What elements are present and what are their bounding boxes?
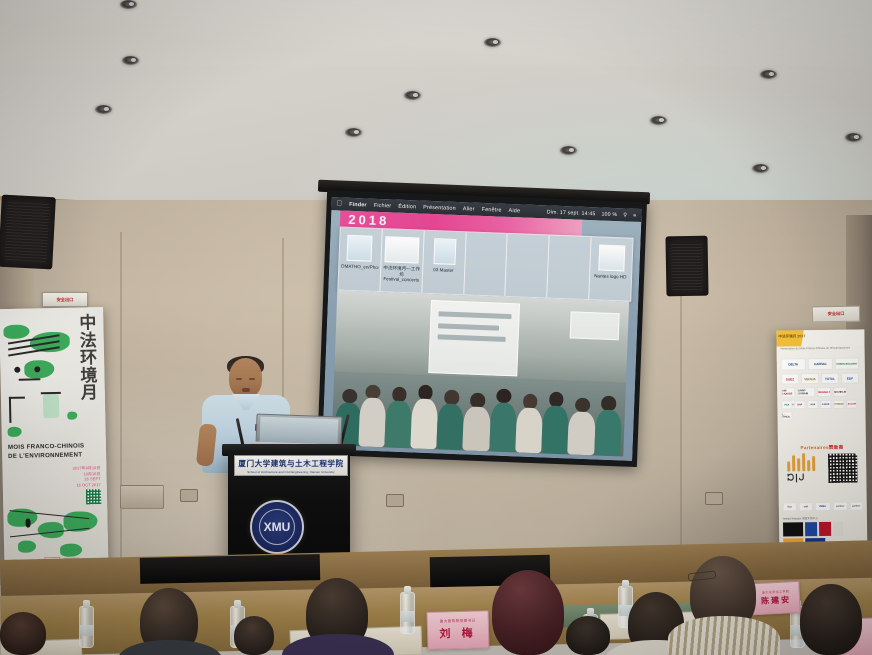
menubar-status-area: Dim. 17 sept. 14:45 100 % ⚲ ≡: [547, 209, 637, 218]
photo-whiteboard-line: [437, 334, 505, 342]
tile-blue: [805, 522, 817, 536]
sponsor-logo: SAINT-GOBAIN: [797, 387, 815, 397]
sponsor-logo-row-4: PSA BNP AXA ENGIE SCHNEIDER ACCOR L-OREA…: [781, 399, 861, 420]
placard-org: 厦大建筑院党委书记: [440, 619, 476, 625]
speaker-head: [229, 358, 262, 398]
downlight-icon: [122, 56, 139, 65]
sponsor-logo: AXA: [807, 400, 818, 409]
xiamen-university-seal-glyph: XMU: [259, 509, 295, 545]
finder-column[interactable]: 03 Master: [422, 231, 466, 295]
downlight-icon: [95, 105, 112, 114]
banner-top-strip: 中法环境月 2017: [776, 329, 864, 346]
banner-partners-title: Partenaires赞助商: [778, 444, 866, 451]
menu-item-fenetre[interactable]: Fenêtre: [482, 206, 502, 213]
file-label: [467, 268, 504, 269]
projection-screen-surface:  Finder Fichier Édition Présentation Al…: [322, 197, 641, 461]
menu-item-fichier[interactable]: Fichier: [374, 202, 392, 209]
file-thumbnail[interactable]: [385, 236, 420, 263]
menu-item-edition[interactable]: Édition: [398, 203, 416, 210]
sponsor-logo: GREEN-BUILDING: [835, 357, 859, 369]
mac-desktop: 2018 DMATHO_en/PhotoVis 中法环境月—工作坊 Festiv…: [322, 210, 641, 461]
sponsor-logo: L-OREAL: [781, 411, 792, 420]
sponsor-logo: CAFFAC: [808, 358, 833, 370]
banner-footer-logos: ifcn ciid IMSA partner partner: [783, 501, 863, 511]
footer-logo: ciid: [799, 502, 813, 511]
downlight-icon: [845, 133, 862, 142]
sponsor-logo-row-2: SUEZ VEOLIA TOTAL EDF: [781, 372, 861, 384]
sponsor-logo: MICHELIN: [833, 387, 847, 397]
slide-group-photo: [332, 290, 629, 456]
sponsor-logo: AIR-LIQUIDE: [781, 387, 795, 397]
exit-sign-left: 安全出口: [42, 292, 88, 307]
apple-icon[interactable]: : [337, 200, 343, 207]
banner-partners-title-fr: Partenaires: [800, 445, 828, 450]
file-label: DMATHO_en/PhotoVis: [341, 264, 379, 271]
poster-title-cn: 中法环境月: [77, 314, 100, 402]
photo-whiteboard-line: [438, 323, 499, 330]
downlight-icon: [404, 91, 421, 100]
name-placard: 厦大建筑院党委书记 刘 梅: [427, 610, 490, 650]
tile-light: [833, 522, 843, 536]
exit-sign-right-label: 安全出口: [828, 311, 845, 317]
menu-item-presentation[interactable]: Présentation: [423, 204, 456, 211]
presenter-laptop-screen: [260, 417, 339, 445]
downlight-icon: [345, 128, 362, 137]
sponsor-logo: SCHNEIDER: [833, 400, 844, 409]
menubar-clock[interactable]: Dim. 17 sept. 14:45: [547, 209, 596, 217]
sponsor-logo: TOTAL: [821, 373, 839, 384]
wall-outlet: [705, 492, 723, 505]
sponsor-logo: PSA: [781, 400, 792, 409]
downlight-icon: [560, 146, 577, 155]
banner-footer-section-title: Institut français 法国文化中心: [783, 516, 818, 520]
sponsor-logo: EDF: [841, 372, 859, 383]
sponsor-logo: ACCOR: [846, 400, 857, 409]
tile-red: [819, 522, 831, 536]
water-bottle: [79, 606, 94, 648]
downlight-icon: [484, 38, 501, 47]
file-label: [508, 270, 545, 271]
search-icon[interactable]: ⚲: [623, 212, 627, 218]
qr-code-icon[interactable]: [828, 454, 857, 483]
sponsor-logo: ENGIE: [820, 400, 831, 409]
audience-head: [492, 570, 564, 655]
poster-dates: 2017年9月16日 10月16日 16 SEPT 16 OCT 2017: [56, 465, 100, 489]
water-bottle: [400, 592, 415, 634]
poster-mois-franco-chinois: 中法环境月 MOIS FRANCO-CHINOIS DE L'ENVIRONNE…: [0, 307, 109, 591]
exit-sign-left-label: 安全出口: [57, 297, 74, 303]
podium-sign-en: School of Architecture and Civil Enginee…: [247, 470, 334, 474]
poster-title-fr: MOIS FRANCO-CHINOIS DE L'ENVIRONNEMENT: [8, 442, 96, 461]
file-label: 03 Master: [425, 267, 463, 274]
poster-title-fr-line2: DE L'ENVIRONNEMENT: [8, 451, 96, 462]
sponsor-logo: DELTA: [781, 358, 806, 370]
qr-code-icon[interactable]: [86, 489, 101, 504]
file-thumbnail[interactable]: [346, 235, 373, 262]
audience-head: [0, 612, 46, 655]
downlight-icon: [760, 70, 777, 79]
wall-outlet: [386, 494, 404, 507]
downlight-icon: [752, 164, 769, 173]
conference-photo-scene: 安全出口 安全出口  Finder Fichier Édition Prése…: [0, 0, 872, 655]
footer-logo: partner: [850, 501, 863, 510]
sponsor-logo: BNP: [794, 400, 805, 409]
placard-name: 陈建安: [761, 594, 792, 607]
footer-logo: partner: [833, 502, 848, 511]
file-label: 中法环境月—工作坊 Festival_concerts: [382, 265, 420, 284]
audience-head: [234, 616, 274, 655]
podium-sign: 厦门大学建筑与土木工程学院 School of Architecture and…: [234, 455, 348, 476]
footer-logo: ifcn: [783, 502, 797, 511]
speaker-left: [0, 195, 56, 270]
audience-head: [566, 616, 610, 655]
footer-logo: IMSA: [815, 502, 831, 511]
wall-outlet: [180, 489, 198, 502]
poster-date-4: 16 OCT 2017: [57, 482, 101, 489]
file-label: Nantes logo HD: [592, 273, 630, 280]
finder-column[interactable]: [547, 236, 591, 300]
photo-side-card: [570, 312, 620, 341]
file-thumbnail[interactable]: [598, 244, 625, 271]
exit-sign-right: 安全出口: [812, 306, 860, 323]
finder-column[interactable]: [506, 234, 550, 298]
finder-window[interactable]: DMATHO_en/PhotoVis 中法环境月—工作坊 Festival_co…: [338, 226, 634, 301]
menu-item-finder[interactable]: Finder: [349, 201, 367, 208]
foreground-shadow: [140, 554, 321, 584]
banner-partners-title-cn: 赞助商: [829, 445, 844, 450]
projection-screen:  Finder Fichier Édition Présentation Al…: [317, 190, 647, 467]
finder-columns: DMATHO_en/PhotoVis 中法环境月—工作坊 Festival_co…: [339, 228, 633, 301]
sponsor-logo: SUEZ: [781, 373, 799, 384]
sponsor-logo: VEOLIA: [801, 373, 819, 384]
banner-header-note: Partenaires du Mois Franco-Chinois de l'…: [781, 346, 861, 351]
xiamen-university-seal: XMU: [250, 500, 304, 554]
tile-photo: [783, 522, 803, 536]
downlight-icon: [120, 0, 137, 9]
menu-item-aller[interactable]: Aller: [463, 206, 475, 212]
ceiling-highlight: [0, 0, 872, 215]
finder-column[interactable]: Nantes logo HD: [589, 237, 632, 301]
control-center-icon[interactable]: ≡: [633, 212, 636, 218]
banner-top-label: 中法环境月 2017: [778, 334, 805, 339]
photo-whiteboard-line: [438, 311, 512, 319]
wall-panel-box: [120, 485, 164, 509]
name-placard: 厦大化学化工学院 陈建安: [751, 581, 801, 615]
placard-name: 刘 梅: [439, 625, 476, 642]
speaker-right: [665, 236, 708, 297]
wall-seam: [120, 232, 122, 562]
sponsor-logo-row-1: DELTA CAFFAC GREEN-BUILDING: [781, 357, 861, 370]
audience-shoulders-striped: [668, 616, 780, 655]
menu-item-aide[interactable]: Aide: [508, 207, 520, 213]
finder-column[interactable]: [464, 232, 508, 296]
podium-sign-cn: 厦门大学建筑与土木工程学院: [238, 458, 343, 469]
file-label: [550, 272, 587, 273]
downlight-icon: [650, 116, 667, 125]
finder-column[interactable]: DMATHO_en/PhotoVis: [339, 228, 383, 292]
photo-crowd: [332, 359, 627, 457]
file-thumbnail[interactable]: [433, 238, 456, 265]
menubar-battery[interactable]: 100 %: [601, 211, 617, 218]
festival-skyline-logo-icon: ᘰ|ᒍ: [787, 454, 819, 480]
sponsor-logo: RENAULT: [817, 387, 831, 397]
sponsor-banner: 中法环境月 2017 Partenaires du Mois Franco-Ch…: [776, 329, 867, 570]
finder-column[interactable]: 中法环境月—工作坊 Festival_concerts: [380, 229, 424, 293]
audience-head: [800, 584, 862, 655]
